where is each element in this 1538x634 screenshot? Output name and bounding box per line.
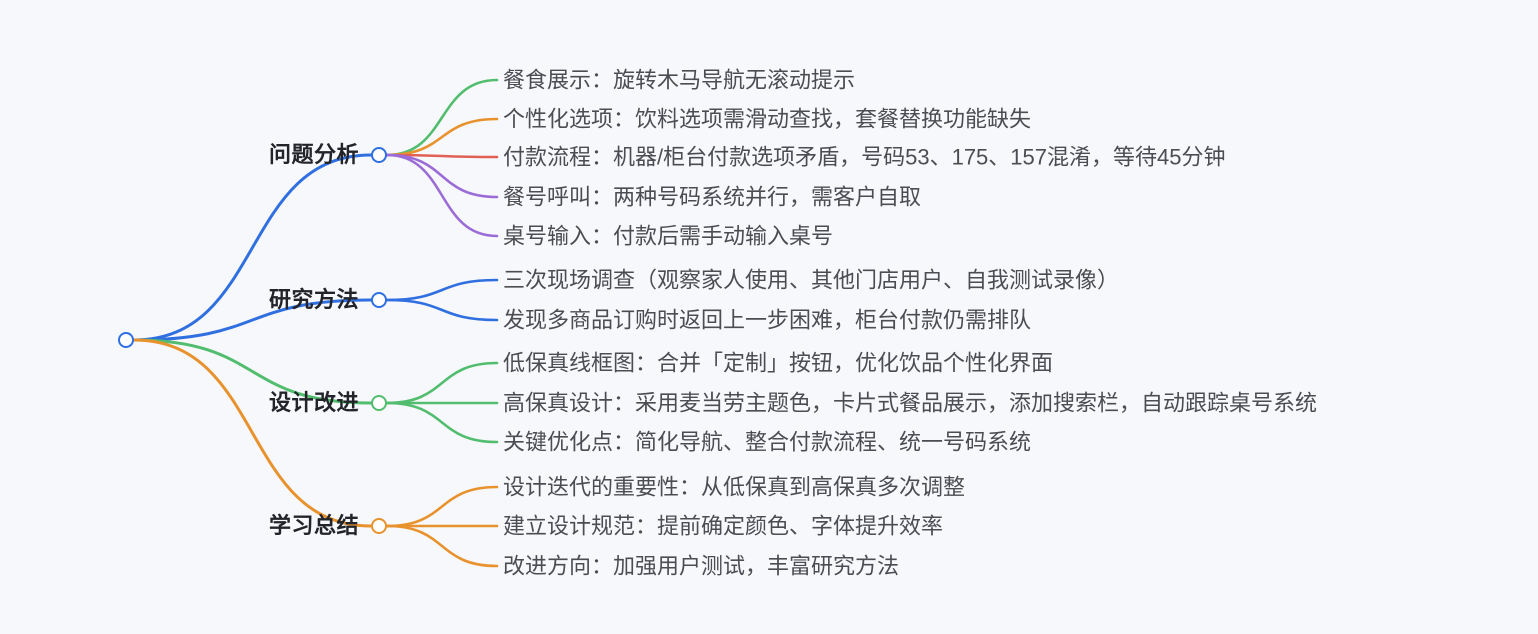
leaf-label-3-3[interactable]: 关键优化点：简化导航、整合付款流程、统一号码系统: [503, 429, 1031, 454]
leaf-label-2-2[interactable]: 发现多商品订购时返回上一步困难，柜台付款仍需排队: [503, 307, 1031, 332]
leaf-label-3-2[interactable]: 高保真设计：采用麦当劳主题色，卡片式餐品展示，添加搜索栏，自动跟踪桌号系统: [503, 390, 1317, 415]
branch-node-1[interactable]: [371, 147, 387, 163]
leaf-label-1-3[interactable]: 付款流程：机器/柜台付款选项矛盾，号码53、175、157混淆，等待45分钟: [503, 144, 1225, 169]
connector-branch-1-leaf-3: [387, 155, 497, 157]
leaf-label-1-2[interactable]: 个性化选项：饮料选项需滑动查找，套餐替换功能缺失: [503, 106, 1031, 131]
leaf-label-2-1[interactable]: 三次现场调查（观察家人使用、其他门店用户、自我测试录像）: [503, 267, 1119, 292]
connector-branch-3-leaf-3: [387, 403, 497, 442]
leaf-label-4-2[interactable]: 建立设计规范：提前确定颜色、字体提升效率: [503, 513, 943, 538]
leaf-label-4-3[interactable]: 改进方向：加强用户测试，丰富研究方法: [503, 553, 899, 578]
branch-node-2[interactable]: [371, 292, 387, 308]
leaf-label-1-4[interactable]: 餐号呼叫：两种号码系统并行，需客户自取: [503, 184, 921, 209]
branch-node-4[interactable]: [371, 518, 387, 534]
root-node[interactable]: [118, 332, 134, 348]
connector-branch-1-leaf-1: [387, 80, 497, 155]
connector-root-to-branch-4: [134, 340, 371, 526]
connector-branch-2-leaf-1: [387, 280, 497, 300]
leaf-label-1-5[interactable]: 桌号输入：付款后需手动输入桌号: [503, 223, 833, 248]
leaf-label-3-1[interactable]: 低保真线框图：合并「定制」按钮，优化饮品个性化界面: [503, 350, 1053, 375]
leaf-label-4-1[interactable]: 设计迭代的重要性：从低保真到高保真多次调整: [503, 474, 965, 499]
branch-label-3[interactable]: 设计改进: [269, 392, 359, 414]
connector-branch-1-leaf-4: [387, 155, 497, 197]
connector-branch-4-leaf-3: [387, 526, 497, 566]
branch-label-4[interactable]: 学习总结: [269, 515, 359, 537]
branch-label-1[interactable]: 问题分析: [269, 144, 359, 166]
mindmap-canvas: 问题分析餐食展示：旋转木马导航无滚动提示个性化选项：饮料选项需滑动查找，套餐替换…: [0, 0, 1538, 634]
connector-root-to-branch-1: [134, 155, 371, 340]
leaf-label-1-1[interactable]: 餐食展示：旋转木马导航无滚动提示: [503, 67, 855, 92]
connector-branch-3-leaf-1: [387, 363, 497, 403]
connector-branch-2-leaf-2: [387, 300, 497, 320]
connector-branch-1-leaf-2: [387, 119, 497, 155]
connector-branch-4-leaf-1: [387, 487, 497, 526]
connector-branch-1-leaf-5: [387, 155, 497, 236]
branch-node-3[interactable]: [371, 395, 387, 411]
branch-label-2[interactable]: 研究方法: [269, 289, 359, 311]
